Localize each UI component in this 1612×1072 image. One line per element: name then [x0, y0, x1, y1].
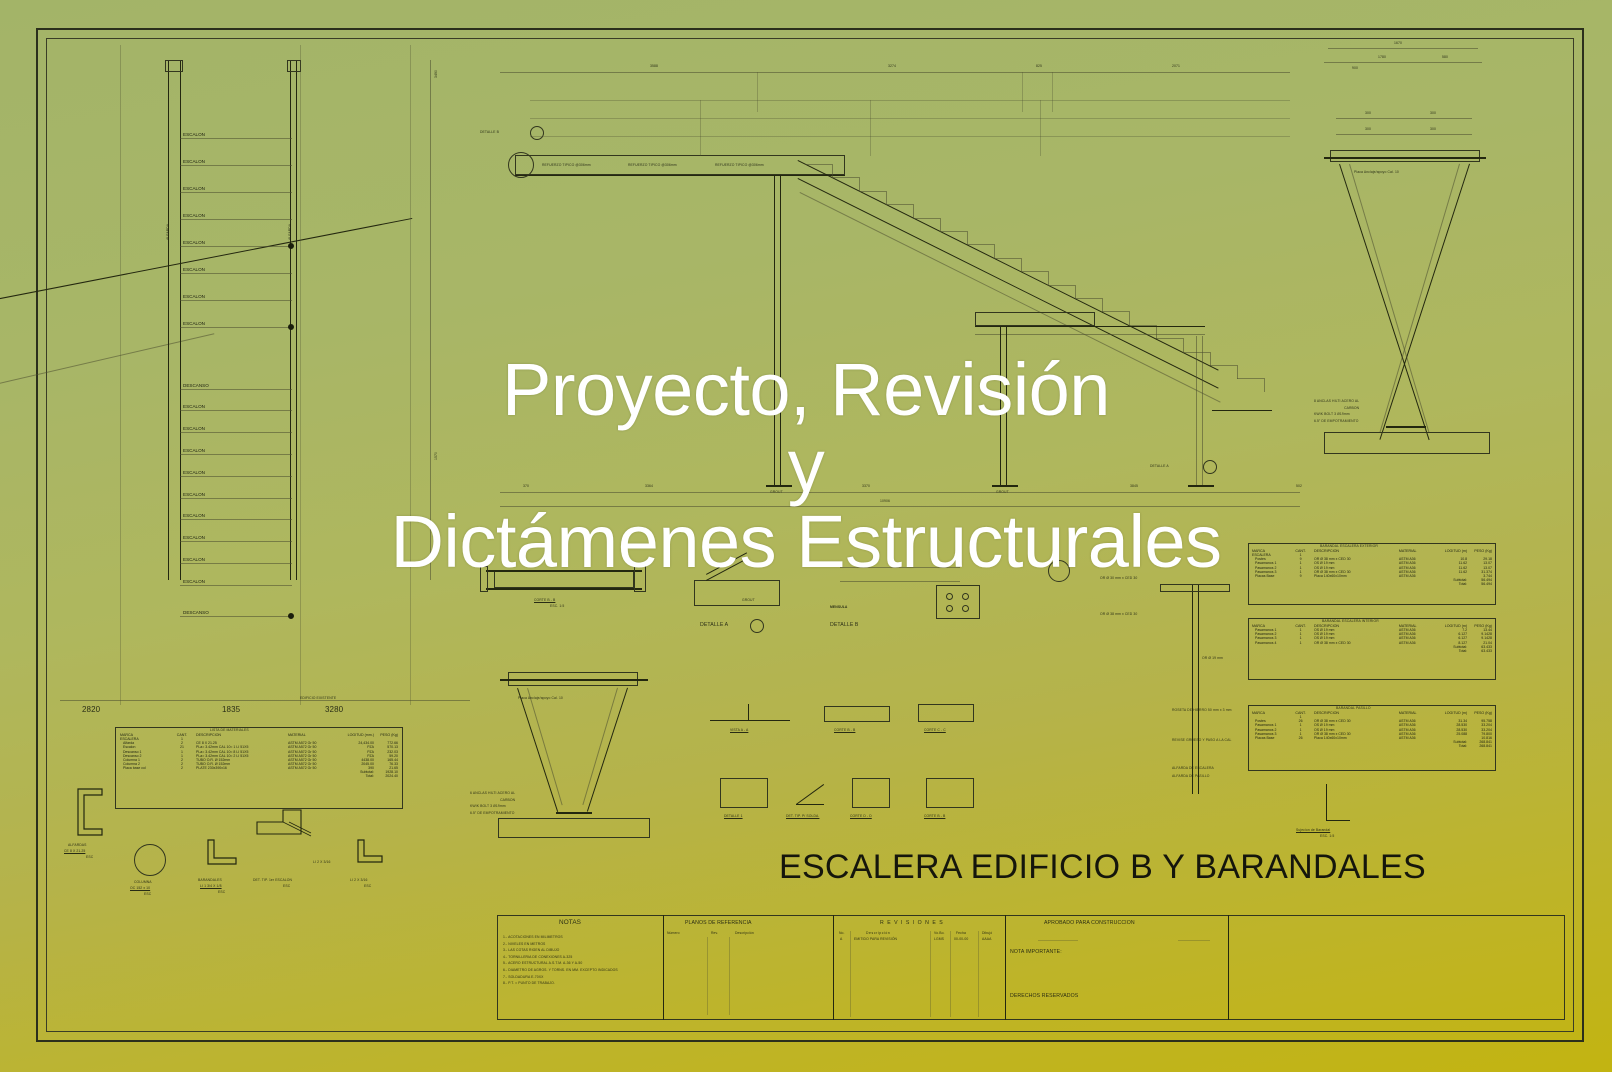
profile-columna-name: COLUMNA [134, 880, 152, 884]
riser-line [1183, 338, 1184, 352]
sujecion-detail: Sujecion de Barandal ESC. 1:5 [1300, 780, 1390, 840]
profile-columna: COLUMNA OC 152 x 10 ESC [128, 840, 188, 900]
stair-tread-line [180, 300, 292, 301]
stair-label-escalon: ESCALON [183, 267, 205, 272]
rev-row-dibujo: AAAA [982, 937, 991, 941]
placa-note: Placa Anclaje/apoyo Cal. 10 [1354, 170, 1399, 174]
tread-line [886, 204, 913, 205]
dim-top-2: 3274 [888, 64, 896, 68]
tread-line [994, 258, 1021, 259]
sujecion-label: Sujecion de Barandal [1296, 828, 1330, 832]
rev-row-vobo: LGMS [934, 937, 944, 941]
rev-row-no: A [840, 937, 842, 941]
stair-label-escalon: ESCALON [183, 294, 205, 299]
total-value: 56.494 [1468, 582, 1493, 586]
mat-col-4: LOGITUD (mm.) [343, 733, 375, 737]
tread-line [859, 191, 886, 192]
ref-col-0: Número [667, 931, 680, 935]
dim-top-4: 2071 [1172, 64, 1180, 68]
stringer-joint-dot [288, 324, 294, 330]
riser-line [1075, 285, 1076, 299]
total-value: 63.433 [1468, 649, 1493, 653]
total-value: 2024.40 [375, 774, 399, 778]
dim-vertical-1: 3490 [434, 70, 438, 78]
note-right-6: ALFARDA DE ESCALERA [1172, 766, 1214, 770]
tread-line [1021, 271, 1048, 272]
profile-alfardas-name: ALFARDAS [68, 843, 87, 847]
profile-angle-2: LI 2 X 3/16 ESC [348, 838, 408, 898]
refuerzo-label-1: REFUERZO TIPICO @306mm [542, 163, 591, 167]
stringer-joint-dot [288, 243, 294, 249]
profile-alfardas-spec: CE 8 X 21.25 [64, 849, 85, 853]
step-detail-icon [253, 800, 323, 844]
stair-label-escalon: ESCALON [183, 186, 205, 191]
rev-row-fecha: 00-00-00 [954, 937, 968, 941]
stair-tread-line [180, 138, 292, 139]
rev-col-2: Vo.Bo. [934, 931, 945, 935]
profile-primer-escalon: DET. TIP. 1er ESCALON LI 2 X 3/16 ESC [253, 800, 343, 890]
overlay-title: Proyecto, Revisión y Dictámenes Estructu… [0, 352, 1612, 580]
rev-col-4: Dibujó [982, 931, 992, 935]
tread-line [967, 244, 994, 245]
note-item: 2.- NIVELES EN METROS [503, 941, 665, 948]
detalle-b-label: DETALLE B [830, 622, 858, 628]
corte-bb-label-3: CORTE B - B [924, 814, 945, 818]
railing-hall-title: BARANDAL PASILLO [1336, 706, 1584, 710]
reference-plans-panel: PLANOS DE REFERENCIA Número Rev. Descrip… [665, 917, 831, 1017]
total-label: Total: [1441, 744, 1468, 748]
total-label: Total: [1441, 582, 1468, 586]
dim-top-3: 825 [1036, 64, 1042, 68]
stair-tread-line [180, 616, 292, 617]
materials-table-title: LISTA DE MATERIALES [210, 728, 498, 732]
profile-alfardas-scale: ESC [86, 855, 93, 859]
railing-int-title: BARANDAL ESCALERA INTERIOR [1322, 619, 1570, 623]
corte-bb-label-2: CORTE B - B [834, 728, 855, 732]
vista-aa-label: VISTA A - A [730, 728, 748, 732]
profile-barandales-spec: LI 1 3/4 X 1/8 [200, 884, 222, 888]
anchor-note2-line-4: 6.5" DE EMPOTRAMIENTO [470, 810, 515, 817]
stair-label-escalon: ESCALON [183, 159, 205, 164]
profile-columna-scale: ESC [144, 892, 151, 896]
note-item: 4.- TORNILLERIA DE CONEXIONES A-325 [503, 954, 665, 961]
stair-label-escalon: ESCALON [183, 213, 205, 218]
stair-label-escalon: ESCALON [183, 132, 205, 137]
overlay-title-line-1: Proyecto, Revisión [0, 352, 1612, 428]
right-notes-group: OR Ø 30 mm x CED 30 OR Ø 38 mm x CED 30 … [1040, 560, 1260, 820]
note-right-4: ROSETA DE HIERRO 50 mm x 3 mm [1172, 708, 1232, 712]
corte-bb-scale-1: ESC. 1:5 [550, 604, 564, 608]
mensula-label: MENSULA [830, 605, 847, 609]
note-right-7: ALFARDA DE PASILLO [1172, 774, 1210, 778]
dim-left-3: 3280 [325, 705, 343, 714]
reference-plans-header: PLANOS DE REFERENCIA [685, 920, 851, 926]
stair-label-alfarda-left: ALFARDA [166, 224, 170, 240]
rights-label: DERECHOS RESERVADOS [1010, 993, 1078, 999]
anchor-note2-line-1: 6 ANCLAS HILTI ACERO AL [470, 790, 515, 797]
channel-section-icon [62, 785, 122, 841]
stair-tread-line [180, 273, 292, 274]
total-value: 268.841 [1468, 744, 1493, 748]
total-label: Total: [1441, 649, 1468, 653]
rev-col-1: Descripción [866, 931, 890, 935]
riser-line [940, 218, 941, 232]
anchor-note-left: 6 ANCLAS HILTI ACERO AL CARBON KWIK BOLT… [470, 790, 515, 816]
approval-header: APROBADO PARA CONSTRUCCION [1044, 920, 1262, 926]
riser-line [1102, 298, 1103, 312]
note-right-2: OR Ø 38 mm x CED 30 [1100, 612, 1137, 616]
stair-tread-line [180, 192, 292, 193]
note-right-5: REVISE GRUESO Y PASO A LA CAL [1172, 738, 1231, 742]
table-total-row: Total:56.494 [1251, 582, 1493, 586]
ref-col-2: Descripción [735, 931, 754, 935]
rev-row-desc: EMITIDO PARA REVISIÓN [854, 937, 897, 941]
railing-int-table: BARANDAL ESCALERA INTERIOR MARCA CANT. D… [1248, 618, 1496, 651]
profile-alfardas: ALFARDAS CE 8 X 21.25 ESC [62, 785, 122, 855]
riser-line [859, 177, 860, 191]
stair-tread-line [180, 585, 292, 586]
dim-right-5: 300 [1365, 111, 1371, 115]
profile-escalon-scale: ESC [283, 884, 290, 888]
placa-note-2: Placa Anclaje/apoyo Cal. 10 [518, 696, 563, 700]
rev-col-3: Fecha [956, 931, 966, 935]
riser-line [1021, 258, 1022, 272]
profile-barandales: BARANDALES LI 1 3/4 X 1/8 ESC [198, 838, 258, 898]
profile-escalon-name: DET. TIP. 1er ESCALON [253, 878, 292, 882]
corte-bb-label-1: CORTE B - B [534, 598, 555, 602]
detalle-b-callout: DETALLE B [480, 130, 499, 134]
dim-right-7: 300 [1365, 127, 1371, 131]
corte-dd-label: CORTE D - D [850, 814, 872, 818]
detail-cluster-c: VISTA A - A CORTE B - B CORTE C - C [700, 690, 1020, 750]
riser-line [1048, 271, 1049, 285]
tread-line [805, 164, 832, 165]
dim-left-2: 1835 [222, 705, 240, 714]
notes-panel: NOTAS 1.- ACOTACIONES EN MILIMETROS2.- N… [499, 917, 661, 1017]
profile-columna-spec: OC 152 x 10 [130, 886, 150, 890]
note-item: 6.- DIAMETRO DE AGROS. Y TORNS. EN MM. E… [503, 967, 665, 974]
revisions-panel: R E V I S I O N E S No. Descripción Vo.B… [836, 917, 1003, 1017]
stair-label-alfarda-right: ALFARDA [288, 224, 292, 240]
riser-line [967, 231, 968, 245]
approval-panel: APROBADO PARA CONSTRUCCION NOTA IMPORTAN… [1008, 917, 1226, 1017]
refuerzo-label-2: REFUERZO TIPICO @306mm [628, 163, 677, 167]
tread-line [1075, 298, 1102, 299]
tread-line [913, 218, 940, 219]
corte-cc-label: CORTE C - C [924, 728, 946, 732]
profile-angle2-scale: ESC [364, 884, 371, 888]
railing-hall-table: BARANDAL PASILLO MARCA CANT. DESCRIPCION… [1248, 705, 1496, 746]
det-tip-solda-label: DET. TIP. P/ SOLDA. [786, 814, 819, 818]
stair-tread-line [180, 165, 292, 166]
stair-tread-line [180, 246, 292, 247]
dim-left-1: 2820 [82, 705, 100, 714]
profile-angle2-spec: LI 2 X 3/16 [350, 878, 368, 882]
overlay-title-line-2: y [0, 428, 1612, 504]
drawing-title: ESCALERA EDIFICIO B Y BARANDALES [779, 848, 1426, 887]
riser-line [832, 164, 833, 178]
tread-line [1156, 338, 1183, 339]
note-right-3: OR Ø 19 mm [1202, 656, 1223, 660]
tread-line [1048, 285, 1075, 286]
detalle-1-label: DETALLE 1 [724, 814, 743, 818]
note-item: 5.- ACERO ESTRUCTURAL A.S.T.M. A-36 Y A-… [503, 960, 665, 967]
dim-right-2: 1780 [1378, 55, 1386, 59]
table-total-row: Total:268.841 [1251, 744, 1493, 748]
dim-right-1: 1670 [1394, 41, 1402, 45]
note-item: 3.- LAS COTAS RIGEN AL DIBUJO [503, 947, 665, 954]
edificio-existente-label: EDIFICIO EXISTENTE [300, 696, 336, 700]
dim-top-1: 3588 [650, 64, 658, 68]
dim-right-8: 300 [1430, 127, 1436, 131]
riser-line [886, 191, 887, 205]
detalle-a-label: DETALLE A [700, 622, 728, 628]
grout-label-3: GROUT [742, 598, 755, 602]
riser-line [1129, 311, 1130, 325]
rev-col-0: No. [839, 931, 845, 935]
note-item: 7.- SOLDADURA E-70XX [503, 974, 665, 981]
detail-cluster-d: DETALLE 1 DET. TIP. P/ SOLDA. CORTE D - … [710, 770, 1010, 840]
stair-tread-line [180, 327, 292, 328]
note-item: 1.- ACOTACIONES EN MILIMETROS [503, 934, 665, 941]
dim-right-6: 300 [1430, 111, 1436, 115]
materials-table: LISTA DE MATERIALES MARCA CANT. DESCRIPC… [115, 727, 403, 776]
profile-escalon-spec: LI 2 X 3/16 [313, 860, 331, 864]
stair-label-escalon: ESCALON [183, 240, 205, 245]
stair-tread-line [180, 219, 292, 220]
stair-label-descanso: DESCANSO [183, 610, 209, 615]
table-total-row: Total:63.433 [1251, 649, 1493, 653]
note-item: 8.- P.T. = PUNTO DE TRABAJO. [503, 980, 665, 987]
angle-section-icon [198, 838, 242, 876]
tread-line [832, 177, 859, 178]
profile-barandales-name: BARANDALES [198, 878, 222, 882]
sujecion-scale: ESC. 1:5 [1320, 834, 1334, 838]
riser-line [994, 244, 995, 258]
rh-col-4: LOGITUD (m) [1441, 711, 1468, 715]
angle-section-icon-2 [348, 838, 388, 874]
important-note-label: NOTA IMPORTANTE: [1010, 949, 1062, 955]
stair-label-escalon: ESCALON [183, 321, 205, 326]
stringer-joint-dot [288, 613, 294, 619]
riser-line [913, 204, 914, 218]
dim-right-4: 900 [1352, 66, 1358, 70]
round-tube-icon [134, 844, 166, 876]
refuerzo-label-3: REFUERZO TIPICO @306mm [715, 163, 764, 167]
table-total-row: Total:2024.40 [119, 774, 399, 778]
tread-line [940, 231, 967, 232]
profile-barandales-scale: ESC [218, 890, 225, 894]
ref-col-1: Rev. [711, 931, 718, 935]
total-label: Total: [343, 774, 375, 778]
overlay-title-line-3: Dictámenes Estructurales [0, 504, 1612, 580]
dim-right-3: 580 [1442, 55, 1448, 59]
v-support-detail: Placa Anclaje/apoyo Cal. 10 [488, 660, 668, 845]
tread-line [1102, 311, 1129, 312]
